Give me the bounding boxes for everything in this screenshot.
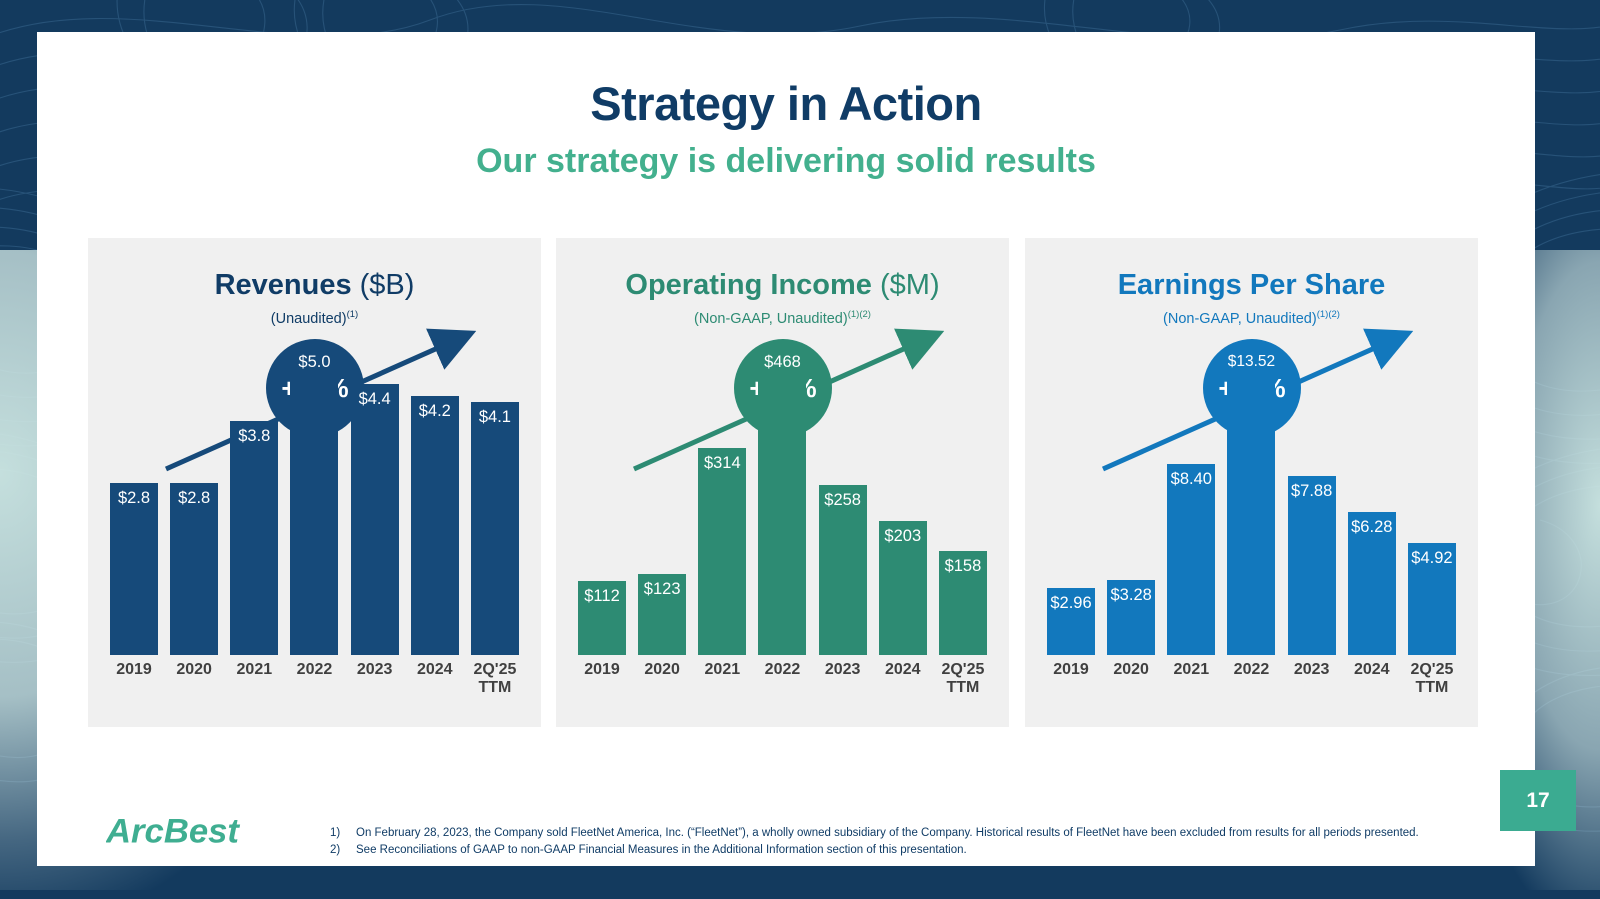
bar-value-label: $468 [764,353,801,372]
bar-column: $258 [819,347,867,655]
panel-title-operating-income: Operating Income ($M) [556,270,1009,302]
bar-value-label: $3.8 [238,427,270,446]
chart-panel-earnings-per-share: Earnings Per Share (Non-GAAP, Unaudited)… [1025,238,1478,727]
x-axis-tick-label-line2: TTM [939,679,987,697]
panel-subtitle-footnote-ref: (1)(2) [1317,309,1340,320]
x-axis-tick-label: 2023 [819,661,867,713]
x-axis-tick-label: 2019 [1047,661,1095,713]
chart-panel-operating-income: Operating Income ($M) (Non-GAAP, Unaudit… [556,238,1009,727]
bar-column: $8.40 [1167,347,1215,655]
bar-value-label: $6.28 [1351,518,1392,537]
panel-title-earnings-per-share: Earnings Per Share [1025,270,1478,302]
x-axis-tick-label: 2020 [1107,661,1155,713]
page-number-badge: 17 [1500,770,1576,831]
bar: $468 [758,347,806,655]
bar-value-label: $2.8 [118,489,150,508]
bar-column: $112 [578,347,626,655]
panel-subtitle-footnote-ref: (1) [347,309,359,320]
bar: $314 [698,448,746,655]
bar: $4.4 [351,384,399,655]
bar-value-label: $8.40 [1171,470,1212,489]
bar-value-label: $258 [824,491,861,510]
footnote-2-text: See Reconciliations of GAAP to non-GAAP … [356,842,967,859]
page-title: Strategy in Action [37,76,1535,131]
bar-value-label: $203 [884,527,921,546]
bar: $203 [879,521,927,655]
bar: $123 [638,574,686,655]
bar-column: $2.8 [170,347,218,655]
footnote-2-number: 2) [330,842,356,859]
bar: $2.96 [1047,588,1095,655]
bar-column: $468 [758,347,806,655]
bar-value-label: $158 [945,557,982,576]
x-axis-tick-label: 2Q'25TTM [471,661,519,713]
bar-value-label: $314 [704,454,741,473]
panel-title-text: Revenues [215,269,352,301]
footnotes: 1) On February 28, 2023, the Company sol… [330,825,1510,858]
chart-panel-revenues: Revenues ($B) (Unaudited)(1) +46% $2.8$2… [88,238,541,727]
x-axis-tick-label: 2022 [758,661,806,713]
panel-title-text: Earnings Per Share [1118,269,1386,301]
bar: $258 [819,485,867,655]
bars-earnings-per-share: $2.96$3.28$8.40$13.52$7.88$6.28$4.92 [1047,347,1456,655]
footnote-1-number: 1) [330,825,356,842]
arcbest-logo: ArcBest [106,810,291,852]
bar-column: $4.92 [1408,347,1456,655]
bar-value-label: $4.92 [1411,549,1452,568]
x-axis-tick-label: 2020 [170,661,218,713]
bar-column: $5.0 [290,347,338,655]
bar: $8.40 [1167,464,1215,655]
bar: $7.88 [1288,476,1336,656]
bar-column: $123 [638,347,686,655]
bar-column: $4.2 [411,347,459,655]
x-axis-tick-label: 2024 [1348,661,1396,713]
bar: $3.8 [230,421,278,655]
bar-value-label: $2.96 [1050,594,1091,613]
bar-chart-revenues: $2.8$2.8$3.8$5.0$4.4$4.2$4.1 20192020202… [88,347,541,727]
bar-value-label: $4.4 [359,390,391,409]
bar: $4.92 [1408,543,1456,655]
footnote-1: 1) On February 28, 2023, the Company sol… [330,825,1510,842]
bar: $4.1 [471,402,519,655]
x-axis-tick-label: 2023 [1288,661,1336,713]
bar-column: $7.88 [1288,347,1336,655]
bar-column: $314 [698,347,746,655]
panel-title-unit: ($M) [880,269,940,301]
footnote-2: 2) See Reconciliations of GAAP to non-GA… [330,842,1510,859]
bar-column: $203 [879,347,927,655]
bar-chart-operating-income: $112$123$314$468$258$203$158 20192020202… [556,347,1009,727]
bar-chart-earnings-per-share: $2.96$3.28$8.40$13.52$7.88$6.28$4.92 201… [1025,347,1478,727]
x-axis-tick-label: 2Q'25TTM [1408,661,1456,713]
x-axis-tick-label: 2023 [351,661,399,713]
bar-value-label: $4.2 [419,402,451,421]
x-axis-tick-label: 2021 [698,661,746,713]
page-subtitle: Our strategy is delivering solid results [37,142,1535,181]
bar: $13.52 [1227,347,1275,655]
x-axis-tick-label: 2Q'25TTM [939,661,987,713]
bar-value-label: $5.0 [298,353,330,372]
bar: $6.28 [1348,512,1396,655]
bar-value-label: $2.8 [178,489,210,508]
bar-value-label: $13.52 [1228,353,1275,371]
bar-column: $6.28 [1348,347,1396,655]
x-axis-tick-label: 2021 [230,661,278,713]
bar: $112 [578,581,626,655]
x-axis-tick-label: 2020 [638,661,686,713]
bar-column: $158 [939,347,987,655]
bar: $2.8 [110,483,158,655]
bars-operating-income: $112$123$314$468$258$203$158 [578,347,987,655]
x-axis-tick-label: 2019 [110,661,158,713]
bar-column: $3.28 [1107,347,1155,655]
bar-value-label: $4.1 [479,408,511,427]
panel-title-text: Operating Income [625,269,872,301]
bar-column: $2.96 [1047,347,1095,655]
bar-column: $4.1 [471,347,519,655]
bar: $2.8 [170,483,218,655]
x-axis-tick-label: 2021 [1167,661,1215,713]
x-axis-tick-label: 2024 [879,661,927,713]
bar-value-label: $123 [644,580,681,599]
x-axis-earnings-per-share: 2019202020212022202320242Q'25TTM [1047,661,1456,713]
x-axis-tick-label-line2: TTM [1408,679,1456,697]
bar-value-label: $112 [584,587,619,606]
bar-value-label: $7.88 [1291,482,1332,501]
footnote-1-text: On February 28, 2023, the Company sold F… [356,825,1419,842]
x-axis-tick-label-line2: TTM [471,679,519,697]
bar-column: $13.52 [1227,347,1275,655]
bar-column: $4.4 [351,347,399,655]
bar: $158 [939,551,987,655]
bar: $4.2 [411,396,459,655]
bar: $3.28 [1107,580,1155,655]
x-axis-revenues: 2019202020212022202320242Q'25TTM [110,661,519,713]
slide-card: Strategy in Action Our strategy is deliv… [37,32,1535,866]
bars-revenues: $2.8$2.8$3.8$5.0$4.4$4.2$4.1 [110,347,519,655]
x-axis-tick-label: 2022 [290,661,338,713]
panel-title-revenues: Revenues ($B) [88,270,541,302]
x-axis-tick-label: 2024 [411,661,459,713]
arcbest-logo-text: ArcBest [106,813,240,851]
panel-title-unit: ($B) [360,269,415,301]
bar-column: $2.8 [110,347,158,655]
bar-value-label: $3.28 [1111,586,1152,605]
x-axis-operating-income: 2019202020212022202320242Q'25TTM [578,661,987,713]
x-axis-tick-label: 2022 [1227,661,1275,713]
bar-column: $3.8 [230,347,278,655]
panel-subtitle-footnote-ref: (1)(2) [848,309,871,320]
bar: $5.0 [290,347,338,655]
x-axis-tick-label: 2019 [578,661,626,713]
